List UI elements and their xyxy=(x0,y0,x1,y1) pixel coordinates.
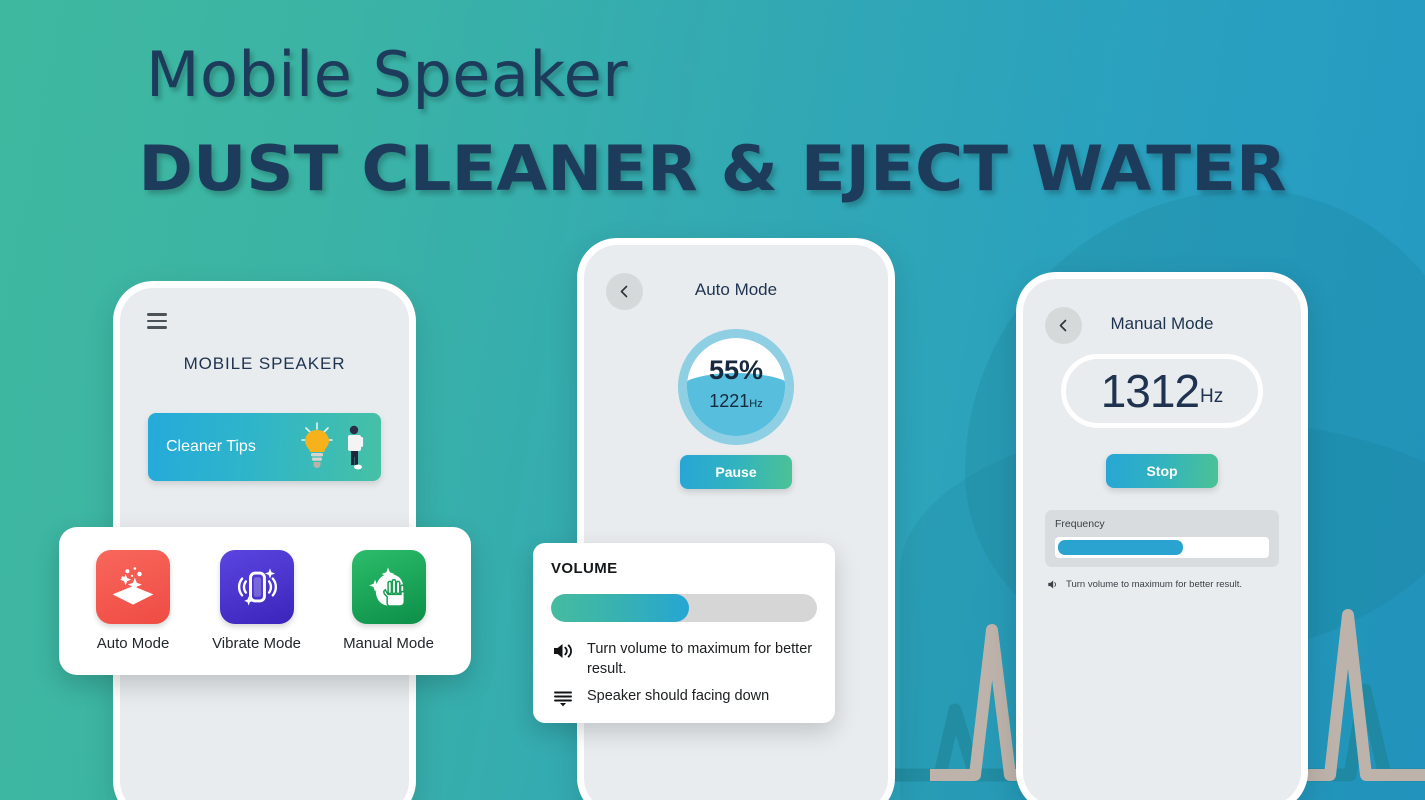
manual-mode-hint-text: Turn volume to maximum for better result… xyxy=(1066,579,1242,590)
mode-label-vibrate: Vibrate Mode xyxy=(212,635,301,652)
volume-slider[interactable] xyxy=(551,594,817,622)
frequency-display-pill: 1312 Hz xyxy=(1061,354,1263,428)
auto-clean-sparkle-icon xyxy=(96,550,170,624)
volume-hint-row: Speaker should facing down xyxy=(551,687,817,707)
page-title-main: DUST CLEANER & EJECT WATER xyxy=(0,132,1425,205)
frequency-value: 1312 xyxy=(1101,368,1199,414)
phone-mockup-manual-mode: Manual Mode 1312 Hz Stop Frequency Turn … xyxy=(1016,272,1308,800)
auto-mode-gauge-wrap: 55% 1221Hz xyxy=(584,329,888,445)
gauge-frequency-unit: Hz xyxy=(749,398,762,410)
phone-vibrate-icon xyxy=(220,550,294,624)
auto-clean-sparkle-glyph xyxy=(107,561,159,613)
lightbulb-and-person-illustration xyxy=(295,417,373,477)
volume-hint-list: Turn volume to maximum for better result… xyxy=(551,640,817,707)
frequency-unit: Hz xyxy=(1200,374,1223,408)
mode-item-vibrate[interactable]: Vibrate Mode xyxy=(212,550,301,652)
water-level-gauge: 55% 1221Hz xyxy=(678,329,794,445)
hand-wipe-clean-glyph xyxy=(363,561,415,613)
volume-hint-text: Speaker should facing down xyxy=(587,687,769,707)
frequency-panel-label: Frequency xyxy=(1055,518,1269,530)
gauge-core xyxy=(687,338,785,436)
hand-wipe-clean-icon xyxy=(352,550,426,624)
pause-button[interactable]: Pause xyxy=(680,455,792,489)
manual-mode-nav-bar: Manual Mode xyxy=(1023,307,1301,345)
mode-item-auto[interactable]: Auto Mode xyxy=(96,550,170,652)
cleaner-tips-card[interactable]: Cleaner Tips xyxy=(148,413,381,481)
volume-card: VOLUME Turn volume to maximum for better… xyxy=(533,543,835,723)
phone-vibrate-glyph xyxy=(231,561,283,613)
frequency-panel: Frequency xyxy=(1045,510,1279,567)
auto-mode-title: Auto Mode xyxy=(584,280,888,300)
stop-button[interactable]: Stop xyxy=(1106,454,1218,488)
speaker-facing-down-icon xyxy=(551,687,575,707)
mode-label-auto: Auto Mode xyxy=(97,635,170,652)
speaker-volume-icon xyxy=(551,640,575,660)
volume-hint-row: Turn volume to maximum for better result… xyxy=(551,640,817,679)
speaker-volume-icon xyxy=(1047,579,1060,590)
volume-card-title: VOLUME xyxy=(551,560,817,577)
mode-item-manual[interactable]: Manual Mode xyxy=(343,550,434,652)
mode-selection-card: Auto Mode Vibrate Mode xyxy=(59,527,471,675)
phone-screen-manual-mode: Manual Mode 1312 Hz Stop Frequency Turn … xyxy=(1023,279,1301,800)
manual-mode-title: Manual Mode xyxy=(1023,314,1301,334)
gauge-percent-label: 55% xyxy=(678,355,794,386)
home-screen-title: MOBILE SPEAKER xyxy=(120,354,409,374)
auto-mode-nav-bar: Auto Mode xyxy=(584,273,888,311)
manual-mode-hint: Turn volume to maximum for better result… xyxy=(1047,579,1242,590)
gauge-frequency-value: 1221 xyxy=(709,391,749,411)
cleaner-tips-label: Cleaner Tips xyxy=(166,438,256,456)
volume-slider-fill xyxy=(551,594,689,622)
frequency-slider[interactable] xyxy=(1055,537,1269,558)
mode-label-manual: Manual Mode xyxy=(343,635,434,652)
frequency-slider-fill xyxy=(1058,540,1183,555)
gauge-frequency-label: 1221Hz xyxy=(678,391,794,412)
volume-hint-text: Turn volume to maximum for better result… xyxy=(587,640,817,679)
page-title-script: Mobile Speaker xyxy=(146,38,628,111)
hamburger-menu-icon[interactable] xyxy=(147,313,167,333)
